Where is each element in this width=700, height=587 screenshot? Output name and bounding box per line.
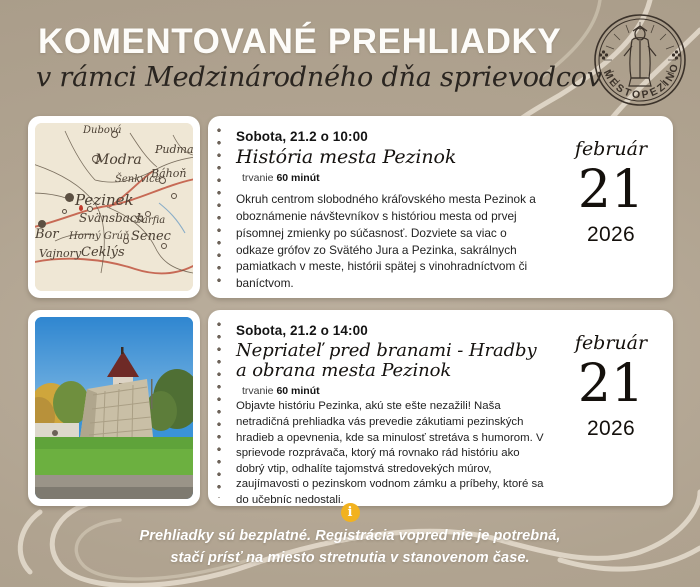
city-walls-photo: [35, 317, 193, 499]
antique-map-image: Dubová Modra Šenkvice Pezinek Báhoň Pudm…: [35, 123, 193, 291]
footer-note-line-2: stačí prísť na miesto stretnutia v stano…: [0, 548, 700, 570]
duration-value: 60 minút: [276, 385, 319, 397]
svg-text:MESTO: MESTO: [601, 68, 643, 101]
tour-title: História mesta Pezinok: [236, 147, 547, 168]
duration-value: 60 minút: [276, 172, 319, 184]
date-year: 2026: [555, 417, 667, 441]
page-subtitle: v rámci Medzinárodného dňa sprievodcov: [36, 62, 602, 93]
footer-note-line-1: Prehliadky sú bezplatné. Registrácia vop…: [0, 526, 700, 548]
info-icon: i: [341, 503, 360, 522]
date-day: 21: [555, 358, 667, 411]
map-label: Vajnory: [39, 247, 81, 260]
poster-footer: i Prehliadky sú bezplatné. Registrácia v…: [0, 503, 700, 570]
tour-datetime: Sobota, 21.2 o 14:00: [236, 323, 547, 338]
tour-description: Okruh centrom slobodného kráľovského mes…: [236, 191, 547, 292]
tour-datetime: Sobota, 21.2 o 10:00: [236, 129, 547, 144]
date-year: 2026: [555, 223, 667, 247]
map-label: Šarfia: [135, 215, 165, 226]
tour-card[interactable]: Dubová Modra Šenkvice Pezinek Báhoň Pudm…: [28, 116, 673, 298]
ticket-stub: Dubová Modra Šenkvice Pezinek Báhoň Pudm…: [28, 116, 200, 298]
tour-card[interactable]: Sobota, 21.2 o 14:00 Nepriateľ pred bran…: [28, 310, 673, 506]
map-label: Dubová: [83, 125, 122, 136]
date-block: február 21 2026: [555, 116, 673, 298]
map-pin-icon: [79, 205, 83, 211]
date-day: 21: [555, 164, 667, 217]
tour-details: Sobota, 21.2 o 10:00 História mesta Pezi…: [208, 116, 673, 298]
date-block: február 21 2026: [555, 310, 673, 506]
map-label: Horný Grúň: [69, 231, 129, 242]
tour-description: Objavte históriu Pezinka, akú ste ešte n…: [236, 399, 547, 506]
tour-details: Sobota, 21.2 o 14:00 Nepriateľ pred bran…: [208, 310, 673, 506]
tour-title: Nepriateľ pred branami - Hradby a obrana…: [236, 341, 547, 381]
ticket-stub: [28, 310, 200, 506]
duration-prefix: trvanie: [242, 172, 274, 184]
tour-duration: trvanie 60 minút: [242, 172, 547, 184]
map-label: Modra: [95, 152, 142, 168]
map-label: Pudma: [155, 143, 193, 156]
tour-duration: trvanie 60 minút: [242, 385, 547, 397]
date-month: február: [555, 332, 667, 354]
map-label: Pezinek: [75, 191, 134, 209]
date-month: február: [555, 138, 667, 160]
poster-canvas: KOMENTOVANÉ PREHLIADKY v rámci Medzináro…: [0, 0, 700, 587]
map-label: Báhoň: [151, 167, 186, 180]
perforation-line: [217, 124, 221, 290]
seal-text-top: MESTO: [601, 68, 643, 101]
duration-prefix: trvanie: [242, 385, 274, 397]
map-label: Senec: [131, 229, 171, 244]
perforation-line: [217, 318, 221, 498]
map-label: Bor: [35, 227, 59, 242]
madonna-seal-icon: MESTO PEZINOK: [588, 8, 692, 112]
map-label: Ceklýs: [81, 245, 125, 260]
page-title: KOMENTOVANÉ PREHLIADKY: [38, 22, 561, 62]
